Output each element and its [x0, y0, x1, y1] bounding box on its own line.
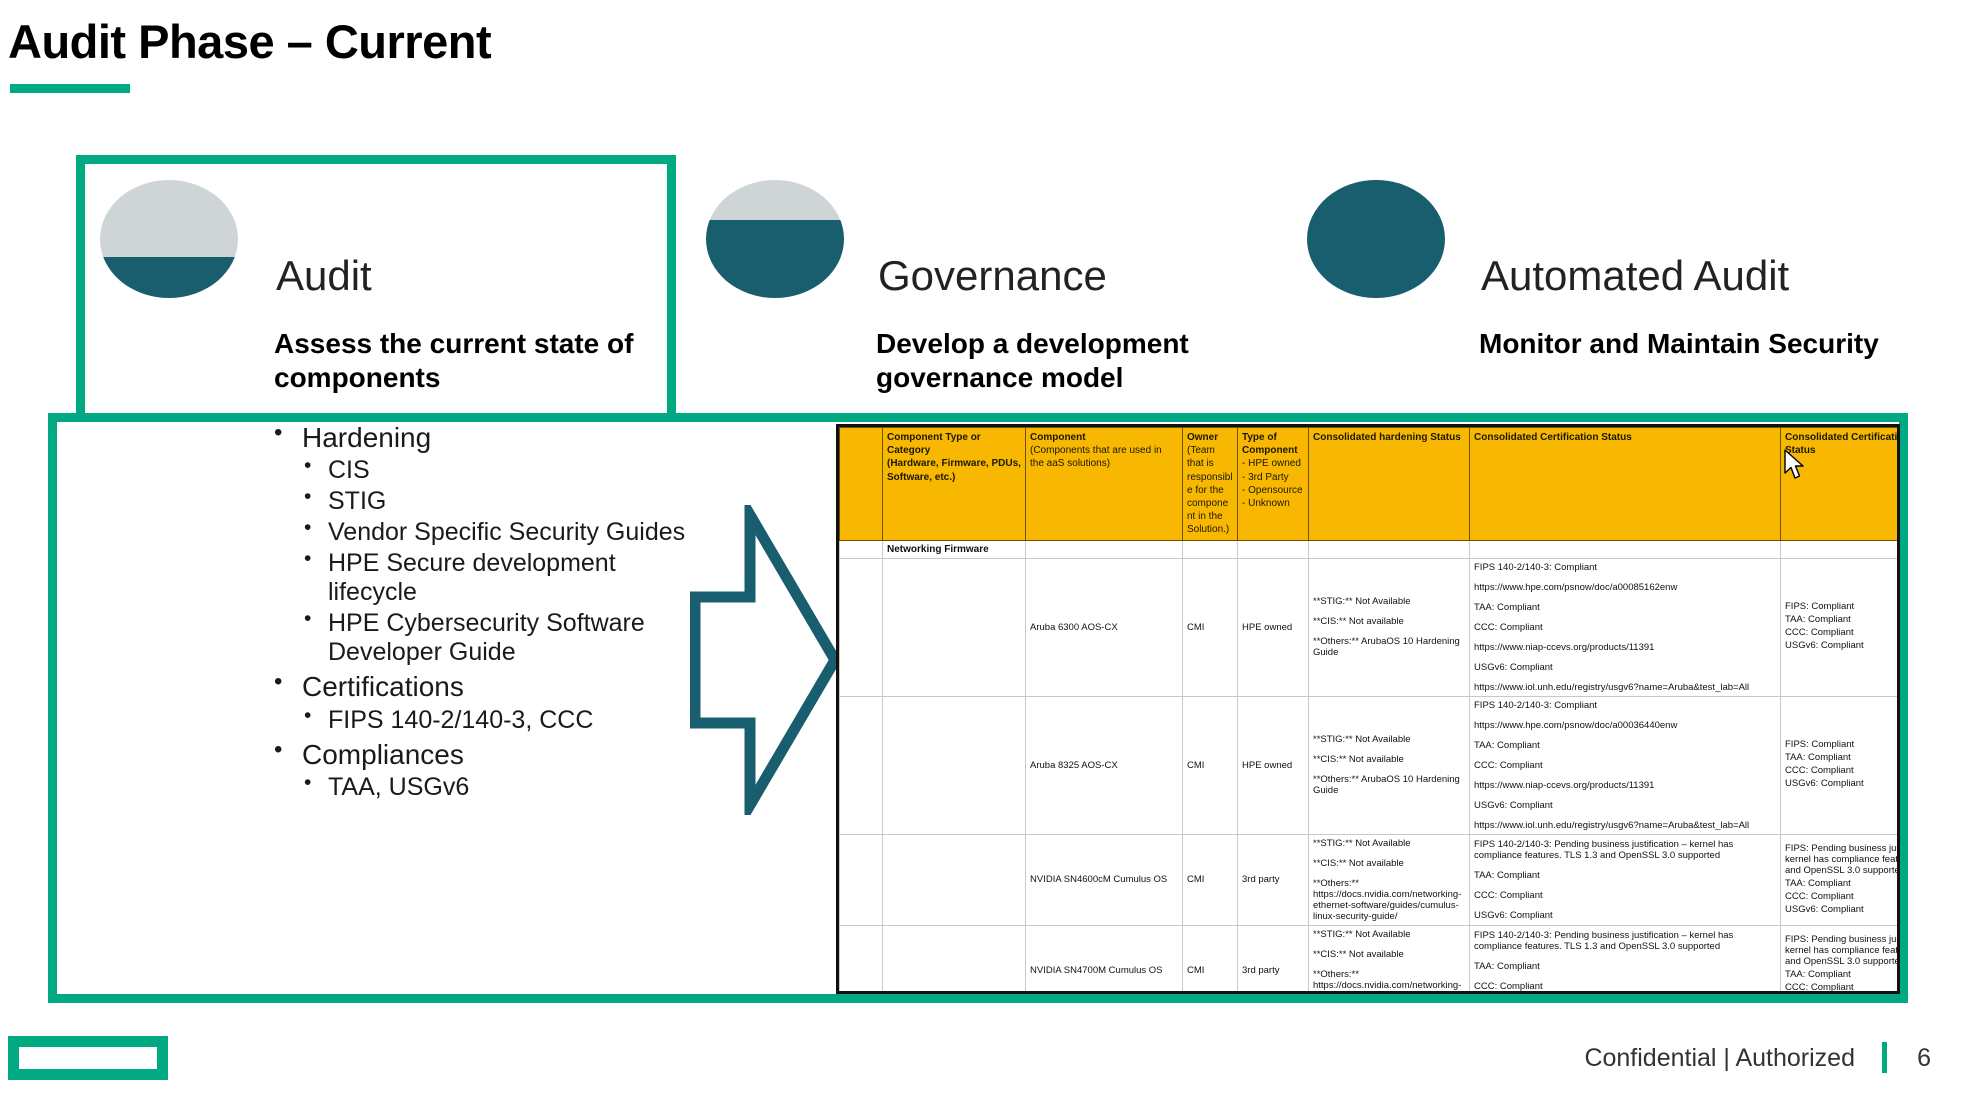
spreadsheet-screenshot[interactable]: Component Type or Category (Hardware, Fi…: [836, 424, 1900, 994]
cell-line: CCC: Compliant: [1785, 627, 1900, 638]
bullet-item: Certifications: [272, 671, 692, 703]
row-index-cell[interactable]: [840, 925, 883, 994]
hpe-logo: [8, 1036, 168, 1080]
cell-line: https://www.hpe.com/psnow/doc/a00085162e…: [1474, 582, 1776, 593]
cell-line: **Others:** ArubaOS 10 Hardening Guide: [1313, 774, 1465, 796]
title-accent-underline: [10, 84, 130, 93]
header-title: Component Type or Category: [887, 432, 981, 456]
group-row-label[interactable]: Networking Firmware: [883, 540, 1026, 558]
phase-subtitle-audit: Assess the current state of components: [274, 327, 674, 395]
cell-line: **CIS:** Not available: [1313, 754, 1465, 765]
cell-line: USGv6: Compliant: [1474, 800, 1776, 811]
cell-type[interactable]: 3rd party: [1238, 925, 1309, 994]
cell-line: **STIG:** Not Available: [1313, 596, 1465, 607]
cell-line: TAA: Compliant: [1785, 878, 1900, 889]
cell-line: FIPS 140-2/140-3: Compliant: [1474, 700, 1776, 711]
cell-hardening-status[interactable]: **STIG:** Not Available**CIS:** Not avai…: [1309, 696, 1470, 834]
cell-line: CCC: Compliant: [1785, 765, 1900, 776]
cell-category[interactable]: [883, 696, 1026, 834]
column-header-index[interactable]: [840, 428, 883, 541]
phase-subtitle-governance: Develop a development governance model: [876, 327, 1296, 395]
cell-component[interactable]: Aruba 8325 AOS-CX: [1026, 696, 1183, 834]
bullet-item: CIS: [272, 456, 692, 485]
group-row-empty-cell[interactable]: [1238, 540, 1309, 558]
header-title: Component: [1030, 432, 1086, 443]
cell-line: **CIS:** Not available: [1313, 616, 1465, 627]
cell-line: https://www.iol.unh.edu/registry/usgv6?n…: [1474, 682, 1776, 693]
cell-line: USGv6: Compliant: [1785, 904, 1900, 915]
cell-line: **STIG:** Not Available: [1313, 929, 1465, 940]
component-audit-table: Component Type or Category (Hardware, Fi…: [839, 427, 1900, 994]
cell-line: https://www.iol.unh.edu/registry/usgv6?n…: [1474, 820, 1776, 831]
audit-bullet-list: HardeningCISSTIGVendor Specific Security…: [272, 418, 692, 804]
cell-line: FIPS 140-2/140-3: Compliant: [1474, 562, 1776, 573]
cell-hardening-status[interactable]: **STIG:** Not Available**CIS:** Not avai…: [1309, 558, 1470, 696]
column-header-certification-status[interactable]: Consolidated Certification Status: [1470, 428, 1781, 541]
cell-component[interactable]: NVIDIA SN4700M Cumulus OS: [1026, 925, 1183, 994]
table-row[interactable]: NVIDIA SN4700M Cumulus OSCMI3rd party**S…: [840, 925, 1901, 994]
header-option-hpe-owned: - HPE owned: [1242, 457, 1304, 470]
header-title: Type of Component: [1242, 432, 1298, 456]
cell-line: https://www.hpe.com/psnow/doc/a00036440e…: [1474, 720, 1776, 731]
cell-certification-status[interactable]: FIPS 140-2/140-3: Complianthttps://www.h…: [1470, 558, 1781, 696]
cell-hardening-status[interactable]: **STIG:** Not Available**CIS:** Not avai…: [1309, 834, 1470, 925]
cell-owner[interactable]: CMI: [1183, 696, 1238, 834]
cell-line: https://www.niap-ccevs.org/products/1139…: [1474, 780, 1776, 791]
cell-line: FIPS 140-2/140-3: Pending business justi…: [1474, 839, 1776, 861]
cell-line: **CIS:** Not available: [1313, 858, 1465, 869]
automated-audit-circle-fill: [1307, 180, 1445, 298]
footer-divider: [1882, 1042, 1887, 1073]
audit-circle-fill: [100, 257, 238, 298]
group-row-empty-cell[interactable]: [1781, 540, 1901, 558]
phase-title-governance: Governance: [878, 252, 1107, 300]
cell-type[interactable]: HPE owned: [1238, 696, 1309, 834]
column-header-owner[interactable]: Owner (Team that is responsible for the …: [1183, 428, 1238, 541]
cell-line: TAA: Compliant: [1474, 870, 1776, 881]
cell-line: CCC: Compliant: [1785, 982, 1900, 993]
column-header-type-of-component[interactable]: Type of Component - HPE owned - 3rd Part…: [1238, 428, 1309, 541]
cell-certification-trimmed-status[interactable]: FIPS: CompliantTAA: CompliantCCC: Compli…: [1781, 696, 1901, 834]
cell-owner[interactable]: CMI: [1183, 834, 1238, 925]
phase-title-audit: Audit: [276, 252, 372, 300]
cell-certification-trimmed-status[interactable]: FIPS: Pending business justification – k…: [1781, 925, 1901, 994]
cell-line: USGv6: Compliant: [1785, 640, 1900, 651]
bullet-item: Vendor Specific Security Guides: [272, 518, 692, 547]
bullet-item: FIPS 140-2/140-3, CCC: [272, 706, 692, 735]
cell-line: CCC: Compliant: [1474, 981, 1776, 992]
cell-component[interactable]: NVIDIA SN4600cM Cumulus OS: [1026, 834, 1183, 925]
cell-line: CCC: Compliant: [1474, 760, 1776, 771]
header-title: Owner: [1187, 432, 1218, 443]
cell-component[interactable]: Aruba 6300 AOS-CX: [1026, 558, 1183, 696]
cell-line: TAA: Compliant: [1474, 740, 1776, 751]
group-row-empty-cell[interactable]: [1470, 540, 1781, 558]
row-index-cell[interactable]: [840, 834, 883, 925]
header-option-opensource: - Opensource: [1242, 484, 1304, 497]
cell-category[interactable]: [883, 925, 1026, 994]
header-subtitle: (Team that is responsible for the compon…: [1187, 444, 1233, 536]
cell-line: USGv6: Compliant: [1474, 910, 1776, 921]
audit-progress-circle-icon: [100, 180, 238, 298]
cell-line: **STIG:** Not Available: [1313, 734, 1465, 745]
cell-line: **Others:** https://docs.nvidia.com/netw…: [1313, 878, 1465, 922]
cell-line: TAA: Compliant: [1474, 961, 1776, 972]
group-row-empty-cell[interactable]: [1309, 540, 1470, 558]
cell-line: TAA: Compliant: [1785, 614, 1900, 625]
group-row-empty-cell[interactable]: [1026, 540, 1183, 558]
cell-line: USGv6: Compliant: [1474, 662, 1776, 673]
cell-line: FIPS: Pending business justification – k…: [1785, 934, 1900, 967]
footer-confidentiality-label: Confidential | Authorized: [1584, 1044, 1855, 1073]
automated-audit-progress-circle-icon: [1307, 180, 1445, 298]
header-option-unknown: - Unknown: [1242, 497, 1304, 510]
table-header-row: Component Type or Category (Hardware, Fi…: [840, 428, 1901, 541]
cell-type[interactable]: HPE owned: [1238, 558, 1309, 696]
page-title: Audit Phase – Current: [8, 14, 491, 69]
cell-certification-trimmed-status[interactable]: FIPS: CompliantTAA: CompliantCCC: Compli…: [1781, 558, 1901, 696]
right-arrow-icon: [690, 505, 840, 820]
cell-certification-status[interactable]: FIPS 140-2/140-3: Pending business justi…: [1470, 925, 1781, 994]
cell-line: TAA: Compliant: [1785, 752, 1900, 763]
cell-line: TAA: Compliant: [1474, 602, 1776, 613]
cell-line: FIPS: Compliant: [1785, 739, 1900, 750]
mouse-cursor-icon: [1783, 449, 1805, 486]
table-row[interactable]: NVIDIA SN4600cM Cumulus OSCMI3rd party**…: [840, 834, 1901, 925]
cell-certification-status[interactable]: FIPS 140-2/140-3: Complianthttps://www.h…: [1470, 696, 1781, 834]
phase-subtitle-automated-audit: Monitor and Maintain Security: [1479, 327, 1879, 361]
governance-progress-circle-icon: [706, 180, 844, 298]
group-row-empty-cell[interactable]: [1183, 540, 1238, 558]
cell-line: **CIS:** Not available: [1313, 949, 1465, 960]
column-header-hardening-status[interactable]: Consolidated hardening Status: [1309, 428, 1470, 541]
column-header-component[interactable]: Component (Components that are used in t…: [1026, 428, 1183, 541]
cell-line: CCC: Compliant: [1474, 890, 1776, 901]
group-row-index[interactable]: [840, 540, 883, 558]
cell-certification-trimmed-status[interactable]: FIPS: Pending business justification – k…: [1781, 834, 1901, 925]
cell-hardening-status[interactable]: **STIG:** Not Available**CIS:** Not avai…: [1309, 925, 1470, 994]
header-subtitle: (Hardware, Firmware, PDUs, Software, etc…: [887, 457, 1021, 483]
phase-title-automated-audit: Automated Audit: [1481, 252, 1789, 300]
cell-line: **Others:** ArubaOS 10 Hardening Guide: [1313, 636, 1465, 658]
table-row[interactable]: Aruba 6300 AOS-CXCMIHPE owned**STIG:** N…: [840, 558, 1901, 696]
cell-line: https://www.niap-ccevs.org/products/1139…: [1474, 642, 1776, 653]
cell-owner[interactable]: CMI: [1183, 558, 1238, 696]
cell-category[interactable]: [883, 834, 1026, 925]
bullet-item: HPE Cybersecurity Software Developer Gui…: [272, 609, 692, 667]
footer-page-number: 6: [1917, 1044, 1931, 1073]
cell-line: CCC: Compliant: [1785, 891, 1900, 902]
cell-line: FIPS 140-2/140-3: Pending business justi…: [1474, 930, 1776, 952]
column-header-component-type[interactable]: Component Type or Category (Hardware, Fi…: [883, 428, 1026, 541]
bullet-item: TAA, USGv6: [272, 773, 692, 802]
bullet-item: Compliances: [272, 739, 692, 771]
slide-canvas: Audit Phase – Current Audit Assess the c…: [0, 0, 1971, 1105]
cell-line: FIPS: Pending business justification – k…: [1785, 843, 1900, 876]
cell-type[interactable]: 3rd party: [1238, 834, 1309, 925]
table-row[interactable]: Aruba 8325 AOS-CXCMIHPE owned**STIG:** N…: [840, 696, 1901, 834]
header-option-3rd-party: - 3rd Party: [1242, 471, 1304, 484]
bullet-item: STIG: [272, 487, 692, 516]
cell-owner[interactable]: CMI: [1183, 925, 1238, 994]
row-index-cell[interactable]: [840, 696, 883, 834]
cell-line: **Others:** https://docs.nvidia.com/netw…: [1313, 969, 1465, 995]
cell-line: **STIG:** Not Available: [1313, 838, 1465, 849]
cell-line: USGv6: Compliant: [1785, 778, 1900, 789]
bullet-item: Hardening: [272, 422, 692, 454]
cell-line: TAA: Compliant: [1785, 969, 1900, 980]
governance-circle-fill: [706, 220, 844, 298]
cell-certification-status[interactable]: FIPS 140-2/140-3: Pending business justi…: [1470, 834, 1781, 925]
cell-line: CCC: Compliant: [1474, 622, 1776, 633]
cell-category[interactable]: [883, 558, 1026, 696]
table-group-row[interactable]: Networking Firmware: [840, 540, 1901, 558]
bullet-item: HPE Secure development lifecycle: [272, 549, 692, 607]
header-subtitle: (Components that are used in the aaS sol…: [1030, 444, 1178, 470]
row-index-cell[interactable]: [840, 558, 883, 696]
cell-line: FIPS: Compliant: [1785, 601, 1900, 612]
